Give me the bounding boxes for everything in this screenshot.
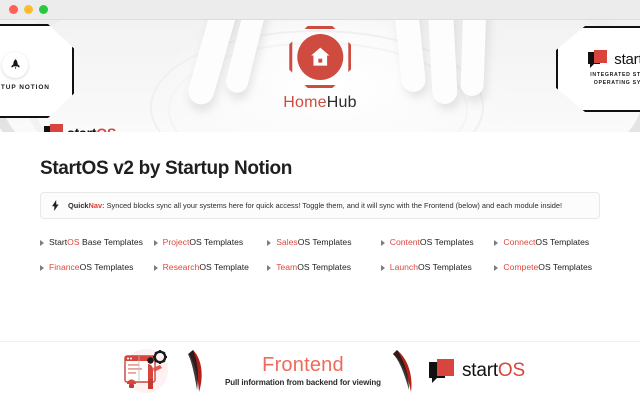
toggle-triangle-icon[interactable] — [40, 265, 44, 271]
link-label: ResearchOS Template — [163, 262, 249, 274]
startos-logo-icon — [44, 124, 62, 132]
banner-startos-brand: startOS — [44, 124, 116, 132]
link-item-competeos-templates[interactable]: CompeteOS Templates — [494, 262, 600, 274]
link-column: SalesOS Templates TeamOS Templates — [267, 237, 373, 274]
toggle-triangle-icon[interactable] — [267, 265, 271, 271]
startos-badge-subtitle-line1: INTEGRATED STARTUP — [590, 72, 640, 80]
red-swoosh-left-icon — [187, 348, 213, 394]
link-item-contentos-templates[interactable]: ContentOS Templates — [381, 237, 487, 249]
frontend-title: Frontend — [262, 355, 344, 376]
link-label: FinanceOS Templates — [49, 262, 133, 274]
link-text-post: OS Templates — [298, 237, 352, 247]
link-text-post: Base Templates — [80, 237, 143, 247]
close-window-button[interactable] — [9, 5, 18, 14]
toggle-triangle-icon[interactable] — [40, 240, 44, 246]
link-text-highlight: Research — [163, 262, 200, 272]
link-label: ContentOS Templates — [390, 237, 474, 249]
link-text-post: OS Templates — [80, 262, 134, 272]
toggle-triangle-icon[interactable] — [494, 265, 498, 271]
link-text-highlight: Content — [390, 237, 420, 247]
quicknav-callout: QuickNav: Synced blocks sync all your sy… — [40, 192, 600, 219]
startos-wordmark-start: start — [462, 360, 498, 381]
quicknav-label-accent: Nav: — [89, 201, 105, 210]
link-label: TeamOS Templates — [276, 262, 351, 274]
startup-notion-badge: STARTUP NOTION — [0, 24, 74, 118]
toggle-triangle-icon[interactable] — [267, 240, 271, 246]
frontend-block: Frontend Pull information from backend f… — [225, 355, 381, 387]
startos-badge-subtitle-line2: OPERATING SYSTEM — [590, 80, 640, 88]
startos-wordmark: startOS — [462, 360, 525, 382]
homehub-title: HomeHub — [283, 94, 356, 112]
link-item-launchos-templates[interactable]: LaunchOS Templates — [381, 262, 487, 274]
link-item-projectos-templates[interactable]: ProjectOS Templates — [154, 237, 260, 249]
link-text-highlight: Compete — [503, 262, 538, 272]
page-content: StartOS v2 by Startup Notion QuickNav: S… — [0, 132, 640, 274]
link-text-highlight: Sales — [276, 237, 298, 247]
startos-wordmark: startOS — [614, 51, 640, 68]
startos-wordmark: startOS — [67, 125, 116, 133]
rocket-icon — [2, 52, 28, 78]
link-text-post: OS Templates — [418, 262, 472, 272]
window-titlebar — [0, 0, 640, 20]
maximize-window-button[interactable] — [39, 5, 48, 14]
red-swoosh-right-icon — [393, 348, 419, 394]
lightning-bolt-icon — [51, 200, 60, 211]
home-octagon-icon — [289, 26, 351, 88]
link-text-highlight: Finance — [49, 262, 80, 272]
startos-badge-subtitle: INTEGRATED STARTUP OPERATING SYSTEM — [590, 72, 640, 88]
link-text-post: OS Template — [199, 262, 249, 272]
link-text-post: OS Templates — [538, 262, 592, 272]
startos-wordmark-os: OS — [96, 125, 116, 133]
startos-logo-icon — [588, 50, 608, 68]
link-item-financeos-templates[interactable]: FinanceOS Templates — [40, 262, 146, 274]
page-cover-banner: STARTUP NOTION HomeHub startOS INTEG — [0, 20, 640, 132]
link-text-highlight: Launch — [390, 262, 418, 272]
footer-startos-brand: startOS — [429, 359, 525, 383]
startos-wordmark-os: OS — [498, 360, 525, 381]
toggle-triangle-icon[interactable] — [381, 240, 385, 246]
link-label: ProjectOS Templates — [163, 237, 244, 249]
link-label: StartOS Base Templates — [49, 237, 143, 249]
link-label: CompeteOS Templates — [503, 262, 592, 274]
homehub-title-home: Home — [283, 94, 326, 111]
workspace-illustration — [115, 348, 177, 394]
page-title: StartOS v2 by Startup Notion — [40, 158, 600, 180]
startos-wordmark-start: start — [614, 51, 640, 68]
quicknav-link-grid: StartOS Base Templates FinanceOS Templat… — [40, 237, 600, 274]
banner-blob-decoration — [427, 20, 458, 105]
link-text-post: OS Templates — [297, 262, 351, 272]
link-text-pre: Start — [49, 237, 67, 247]
minimize-window-button[interactable] — [24, 5, 33, 14]
link-text-highlight: Team — [276, 262, 297, 272]
link-text-post: OS Templates — [420, 237, 474, 247]
link-label: ConnectOS Templates — [503, 237, 589, 249]
toggle-triangle-icon[interactable] — [494, 240, 498, 246]
frontend-subtitle: Pull information from backend for viewin… — [225, 378, 381, 387]
link-text-highlight: Connect — [503, 237, 535, 247]
startos-wordmark-start: start — [67, 125, 96, 133]
quicknav-label: Quick — [68, 201, 89, 210]
toggle-triangle-icon[interactable] — [154, 265, 158, 271]
link-text-post: OS Templates — [189, 237, 243, 247]
link-item-connectos-templates[interactable]: ConnectOS Templates — [494, 237, 600, 249]
homehub-title-hub: Hub — [327, 94, 357, 111]
link-column: StartOS Base Templates FinanceOS Templat… — [40, 237, 146, 274]
startos-badge-brand: startOS — [588, 50, 640, 68]
link-column: ProjectOS Templates ResearchOS Template — [154, 237, 260, 274]
toggle-triangle-icon[interactable] — [154, 240, 158, 246]
startos-logo-icon — [429, 359, 455, 383]
link-column: ContentOS Templates LaunchOS Templates — [381, 237, 487, 274]
link-text-highlight: Project — [163, 237, 190, 247]
startup-notion-badge-label: STARTUP NOTION — [0, 84, 50, 91]
link-item-teamos-templates[interactable]: TeamOS Templates — [267, 262, 373, 274]
home-icon — [297, 34, 343, 80]
link-text-post: OS Templates — [535, 237, 589, 247]
link-item-researchos-template[interactable]: ResearchOS Template — [154, 262, 260, 274]
link-item-salesos-templates[interactable]: SalesOS Templates — [267, 237, 373, 249]
homehub-logo: HomeHub — [283, 26, 356, 112]
link-item-startos-base-templates[interactable]: StartOS Base Templates — [40, 237, 146, 249]
banner-blob-decoration — [460, 20, 486, 96]
app-window: STARTUP NOTION HomeHub startOS INTEG — [0, 0, 640, 400]
link-label: SalesOS Templates — [276, 237, 351, 249]
link-column: ConnectOS Templates CompeteOS Templates — [494, 237, 600, 274]
quicknav-callout-text: QuickNav: Synced blocks sync all your sy… — [68, 201, 562, 211]
link-text-highlight: OS — [67, 237, 79, 247]
toggle-triangle-icon[interactable] — [381, 265, 385, 271]
link-label: LaunchOS Templates — [390, 262, 472, 274]
quicknav-body: Synced blocks sync all your systems here… — [105, 201, 562, 210]
page-footer: Frontend Pull information from backend f… — [0, 341, 640, 400]
